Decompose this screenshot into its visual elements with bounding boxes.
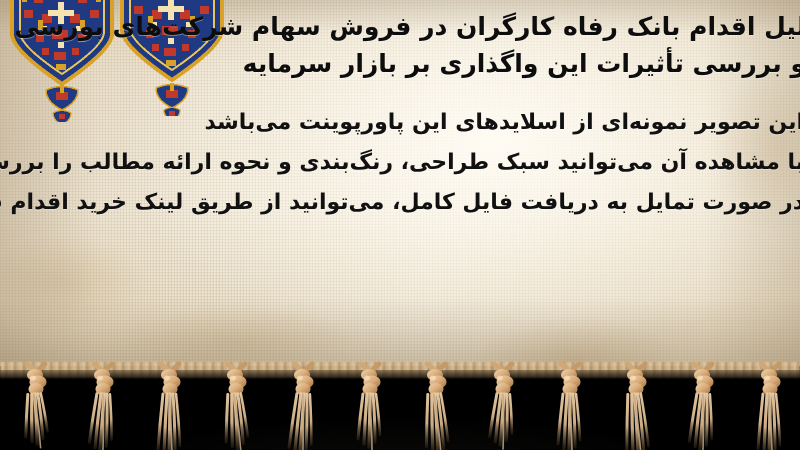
body-line-1: این تصویر نمونه‌ای از اسلایدهای این پاور…: [0, 103, 800, 143]
fringe-tassel: [416, 360, 456, 450]
fringe-tassel: [283, 360, 323, 450]
title-line-1: لیل اقدام بانک رفاه کارگران در فروش سهام…: [0, 8, 800, 45]
fringe-tassel: [683, 360, 723, 450]
fringe-tassel: [16, 360, 56, 450]
fringe-tassel: [483, 360, 523, 450]
body-line-2: با مشاهده آن می‌توانید سبک طراحی، رنگ‌بن…: [0, 143, 800, 183]
slide-title: لیل اقدام بانک رفاه کارگران در فروش سهام…: [0, 8, 800, 82]
carpet-fringe: [0, 360, 800, 450]
fringe-tassel: [550, 360, 590, 450]
body-line-3: در صورت تمایل به دریافت فایل کامل، می‌تو…: [0, 183, 800, 223]
fringe-tassel: [83, 360, 123, 450]
title-line-2: و بررسی تأثیرات این واگذاری بر بازار سرم…: [0, 45, 800, 82]
fringe-tassel: [350, 360, 390, 450]
fringe-tassel: [750, 360, 790, 450]
fringe-tassel: [150, 360, 190, 450]
presentation-slide: لیل اقدام بانک رفاه کارگران در فروش سهام…: [0, 0, 800, 450]
slide-text-layer: لیل اقدام بانک رفاه کارگران در فروش سهام…: [0, 0, 800, 372]
fringe-tassel: [616, 360, 656, 450]
slide-body: این تصویر نمونه‌ای از اسلایدهای این پاور…: [0, 103, 800, 223]
fringe-tassel: [216, 360, 256, 450]
